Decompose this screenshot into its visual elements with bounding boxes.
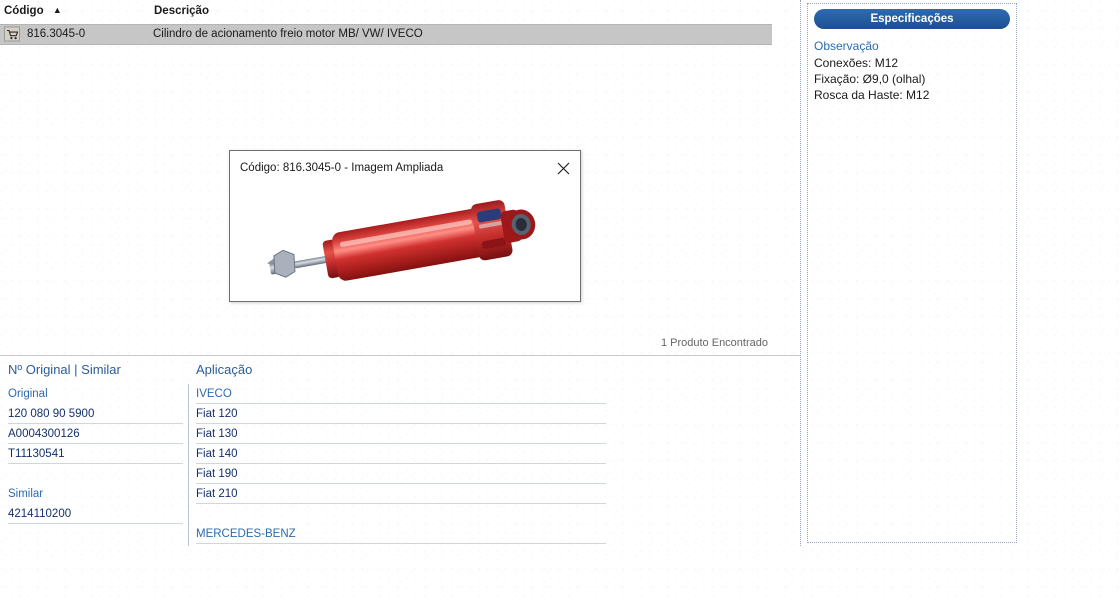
original-number-item[interactable]: 120 080 90 5900 [8,404,183,424]
row-description-cell: Cilindro de acionamento freio motor MB/ … [150,24,772,44]
results-table: Código ▲ Descrição [0,0,772,45]
original-number-item[interactable]: Original [8,384,183,404]
original-number-item[interactable]: 4214110200 [8,504,183,524]
column-header-codigo[interactable]: Código ▲ [0,0,150,24]
aplicacao-item[interactable]: Fiat 140 [196,444,606,464]
row-code-cell: 816.3045-0 [0,24,150,44]
original-numbers-list: Original120 080 90 5900A0004300126T11130… [8,384,183,524]
dialog-header: Código: 816.3045-0 - Imagem Ampliada [230,151,580,185]
column-header-descricao[interactable]: Descrição [150,0,772,24]
vertical-divider [800,0,801,546]
specification-line: Rosca da Haste: M12 [814,87,1016,103]
app-root: Código ▲ Descrição [0,0,1120,598]
original-number-item[interactable]: A0004300126 [8,424,183,444]
specification-line: Fixação: Ø9,0 (olhal) [814,71,1016,87]
aplicacao-list: IVECOFiat 120Fiat 130Fiat 140Fiat 190Fia… [196,384,606,546]
detail-panel: Nº Original | Similar Aplicação Original… [0,356,800,546]
results-count: 1 Produto Encontrado [0,337,772,349]
dialog-body [230,185,580,301]
enlarged-product-image [230,185,580,301]
detail-header-aplicacao: Aplicação [196,362,252,377]
aplicacao-item[interactable]: Fiat 210 [196,484,606,504]
detail-header-original: Nº Original | Similar [8,362,121,377]
sort-ascending-icon[interactable]: ▲ [53,5,62,15]
specifications-button[interactable]: Especificações [814,9,1010,29]
close-icon[interactable] [555,160,571,176]
specification-line: Conexões: M12 [814,55,1016,71]
aplicacao-spacer [196,504,606,524]
specifications-panel: Especificações Observação Conexões: M12F… [807,3,1017,543]
results-table-body: 816.3045-0 Cilindro de acionamento freio… [0,24,772,44]
aplicacao-item[interactable]: Fiat 130 [196,424,606,444]
aplicacao-item[interactable]: Fiat 120 [196,404,606,424]
original-number-spacer [8,464,183,484]
results-table-header: Código ▲ Descrição [0,0,772,24]
aplicacao-item[interactable]: 1113 [196,544,606,546]
column-divider [188,384,189,546]
original-number-item[interactable]: T11130541 [8,444,183,464]
dialog-title: Código: 816.3045-0 - Imagem Ampliada [240,162,555,174]
column-header-descricao-label: Descrição [154,5,209,17]
table-row[interactable]: 816.3045-0 Cilindro de acionamento freio… [0,24,772,44]
header-row: Código ▲ Descrição [0,0,772,24]
enlarged-image-dialog[interactable]: Código: 816.3045-0 - Imagem Ampliada [229,150,581,302]
aplicacao-item[interactable]: MERCEDES-BENZ [196,524,606,544]
row-code-text: 816.3045-0 [27,28,85,40]
row-description-text: Cilindro de acionamento freio motor MB/ … [153,28,423,40]
specification-lines: Conexões: M12Fixação: Ø9,0 (olhal)Rosca … [808,55,1016,103]
cart-icon[interactable] [4,27,20,42]
aplicacao-item[interactable]: IVECO [196,384,606,404]
aplicacao-item[interactable]: Fiat 190 [196,464,606,484]
original-number-item[interactable]: Similar [8,484,183,504]
column-header-codigo-label: Código [4,5,44,17]
observacao-label: Observação [814,39,1016,53]
